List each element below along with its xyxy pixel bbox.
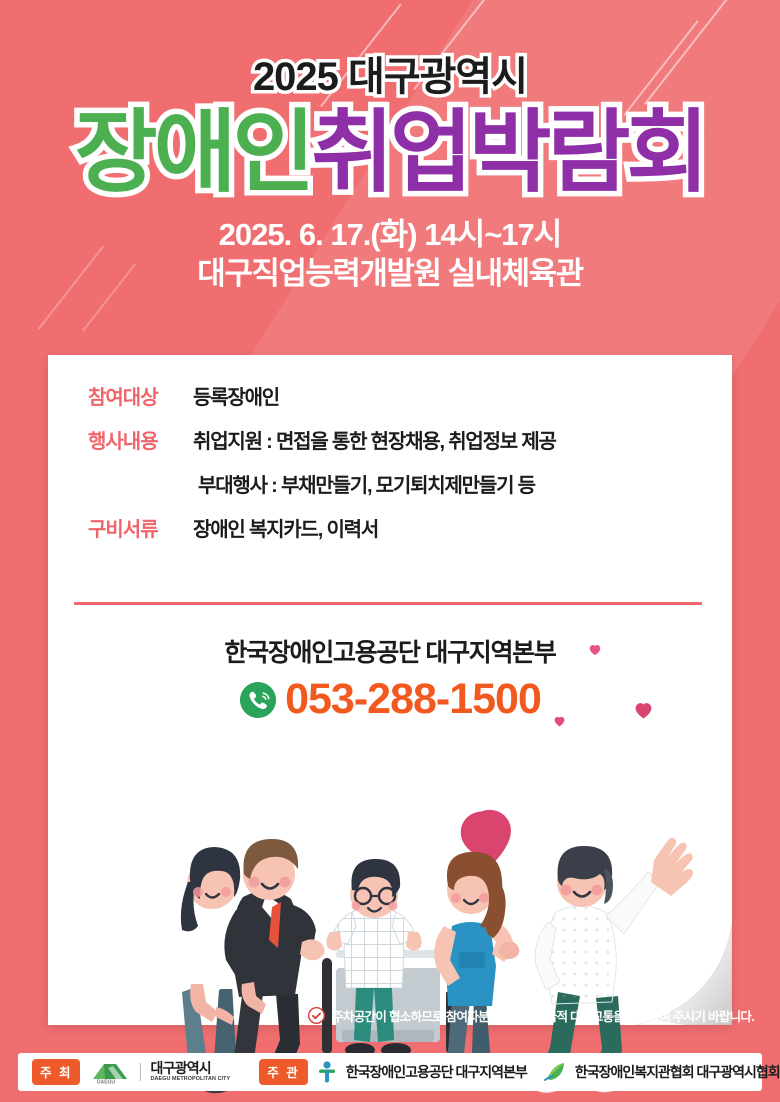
- phone-line: 053-288-1500: [48, 675, 732, 724]
- info-row: 참여대상 등록장애인: [88, 385, 708, 412]
- info-row: 부대행사 : 부채만들기, 모기퇴치제만들기 등: [198, 473, 708, 500]
- event-venue: 대구직업능력개발원 실내체육관: [0, 254, 780, 294]
- sponsor-footer: 주 최 DAEGU 대구광역시 DAEGU METROPOLITAN CITY …: [18, 1053, 762, 1091]
- info-value: 등록장애인: [193, 385, 279, 412]
- section-divider: [74, 602, 702, 605]
- host-name-ko: 대구광역시: [150, 1061, 230, 1076]
- parking-notice-text: 주차공간이 협소하므로 참여자분들께서는 가급적 대중교통을 이용하여 주시기 …: [332, 1006, 754, 1025]
- title-part-green: 장애인: [75, 103, 311, 203]
- info-label: 구비서류: [88, 517, 193, 544]
- organizer-pill: 주 관: [259, 1059, 307, 1085]
- organizer-name-1: 한국장애인고용공단 대구지역본부: [346, 1062, 527, 1082]
- poster-header: 2025 대구광역시 장애인취업박람회 2025. 6. 17.(화) 14시~…: [0, 0, 780, 294]
- organizer-name-2: 한국장애인복지관협회 대구광역시협회: [575, 1062, 780, 1082]
- info-value: 장애인 복지카드, 이력서: [193, 517, 378, 544]
- event-date: 2025. 6. 17.(화) 14시~17시: [0, 215, 780, 255]
- heart-icon: [633, 700, 654, 721]
- info-row: 행사내용 취업지원 : 면접을 통한 현장채용, 취업정보 제공: [88, 429, 708, 456]
- phone-number[interactable]: 053-288-1500: [285, 675, 541, 724]
- host-brand: 대구광역시 DAEGU METROPOLITAN CITY: [150, 1061, 230, 1082]
- daegu-logo-text: DAEGU: [97, 1080, 115, 1085]
- daegu-city-logo: DAEGU: [89, 1060, 131, 1084]
- info-list: 참여대상 등록장애인 행사내용 취업지원 : 면접을 통한 현장채용, 취업정보…: [88, 385, 708, 561]
- kead-logo-icon: [317, 1060, 337, 1084]
- title-part-purple: 취업박람회: [311, 103, 705, 203]
- info-value: 부대행사 : 부채만들기, 모기퇴치제만들기 등: [198, 473, 535, 500]
- poster-root: 2025 대구광역시 장애인취업박람회 2025. 6. 17.(화) 14시~…: [0, 0, 780, 1102]
- heart-icon: [588, 643, 602, 657]
- heart-icon: [553, 715, 566, 728]
- header-kicker: 2025 대구광역시: [0, 56, 780, 98]
- info-label: 행사내용: [88, 429, 193, 456]
- info-label: 참여대상: [88, 385, 193, 412]
- check-circle-icon: [308, 1007, 325, 1024]
- info-row: 구비서류 장애인 복지카드, 이력서: [88, 517, 708, 544]
- people-illustration: [0, 762, 780, 1102]
- page-title: 장애인취업박람회: [0, 106, 780, 201]
- phone-icon: [239, 681, 277, 719]
- parking-notice: 주차공간이 협소하므로 참여자분들께서는 가급적 대중교통을 이용하여 주시기 …: [0, 1006, 780, 1025]
- contact-block: 한국장애인고용공단 대구지역본부 053-288-1500: [48, 633, 732, 724]
- contact-organization: 한국장애인고용공단 대구지역본부: [48, 633, 732, 669]
- host-name-en: DAEGU METROPOLITAN CITY: [150, 1077, 230, 1083]
- footer-separator: [140, 1063, 141, 1081]
- info-value: 취업지원 : 면접을 통한 현장채용, 취업정보 제공: [193, 429, 556, 456]
- host-pill: 주 최: [32, 1059, 80, 1085]
- leaf-logo-icon: [544, 1061, 566, 1083]
